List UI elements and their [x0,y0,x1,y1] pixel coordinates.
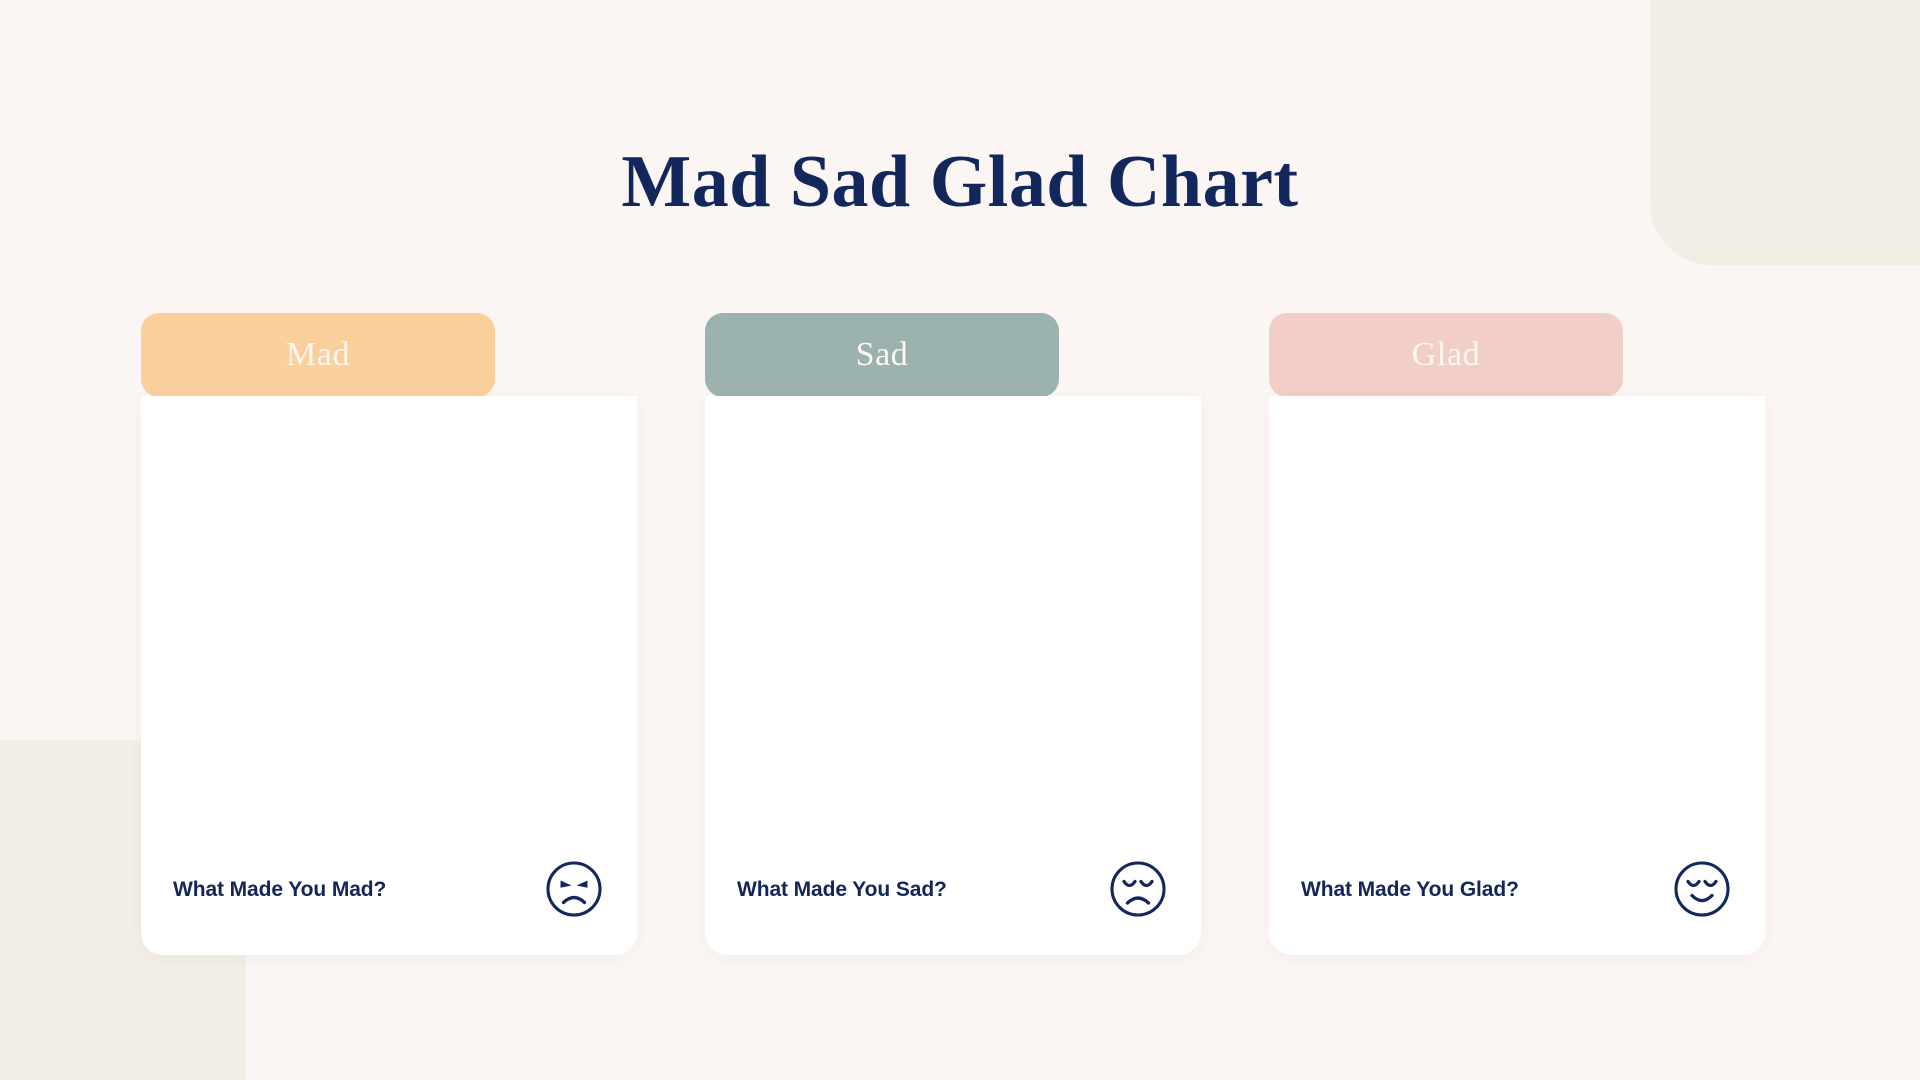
card-prompt-glad: What Made You Glad? [1301,879,1519,900]
card-mad[interactable]: Mad What Made You Mad? [141,313,637,955]
card-footer-glad: What Made You Glad? [1269,823,1765,955]
card-body-mad[interactable]: What Made You Mad? [141,396,637,955]
decorative-shape-top-right [1650,0,1920,265]
card-prompt-mad: What Made You Mad? [173,879,386,900]
card-header-label-glad: Glad [1412,338,1481,372]
angry-face-icon [545,860,603,918]
card-glad[interactable]: Glad What Made You Glad? [1269,313,1765,955]
card-header-mad: Mad [141,313,495,397]
card-body-glad[interactable]: What Made You Glad? [1269,396,1765,955]
card-body-sad[interactable]: What Made You Sad? [705,396,1201,955]
card-header-glad: Glad [1269,313,1623,397]
cards-row: Mad What Made You Mad? Sad What Made You… [0,313,1920,983]
happy-face-icon [1673,860,1731,918]
card-footer-mad: What Made You Mad? [141,823,637,955]
card-footer-sad: What Made You Sad? [705,823,1201,955]
card-prompt-sad: What Made You Sad? [737,879,947,900]
card-header-sad: Sad [705,313,1059,397]
page-title: Mad Sad Glad Chart [0,145,1920,219]
sad-face-icon [1109,860,1167,918]
card-sad[interactable]: Sad What Made You Sad? [705,313,1201,955]
card-header-label-mad: Mad [286,338,350,372]
card-header-label-sad: Sad [856,338,909,372]
